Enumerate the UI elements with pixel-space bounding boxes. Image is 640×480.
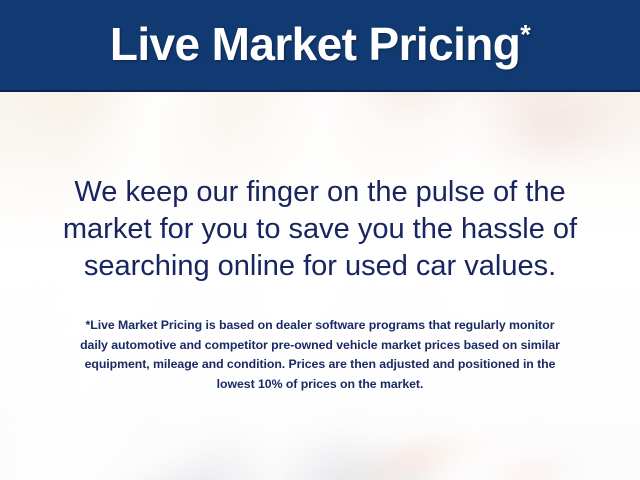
disclaimer-line-1: *Live Market Pricing is based on dealer … xyxy=(24,316,616,336)
page-title: Live Market Pricing* xyxy=(110,21,530,70)
page-title-text: Live Market Pricing xyxy=(110,18,520,70)
page-title-asterisk: * xyxy=(520,19,530,49)
content-area: We keep our finger on the pulse of the m… xyxy=(0,92,640,480)
disclaimer-line-3: equipment, mileage and condition. Prices… xyxy=(24,355,616,375)
headline-line-2: market for you to save you the hassle of xyxy=(0,211,640,248)
headline-line-3: searching online for used car values. xyxy=(0,248,640,285)
headline-line-1: We keep our finger on the pulse of the xyxy=(0,174,640,211)
live-market-pricing-slide: Live Market Pricing* We keep our finger … xyxy=(0,0,640,480)
disclaimer-line-2: daily automotive and competitor pre-owne… xyxy=(24,336,616,356)
header-banner: Live Market Pricing* xyxy=(0,0,640,92)
headline-text: We keep our finger on the pulse of the m… xyxy=(0,174,640,285)
disclaimer-line-4: lowest 10% of prices on the market. xyxy=(24,375,616,395)
disclaimer-text: *Live Market Pricing is based on dealer … xyxy=(24,316,616,394)
